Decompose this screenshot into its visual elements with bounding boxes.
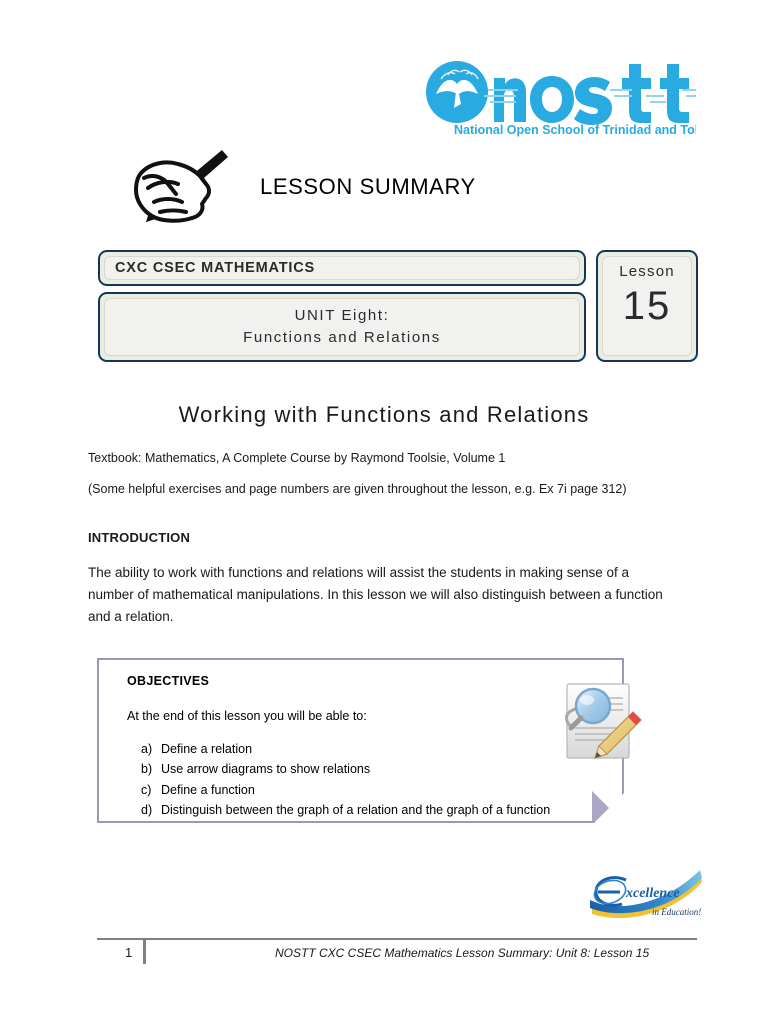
document-magnifier-pencil-icon [557, 676, 645, 766]
footer-text: NOSTT CXC CSEC Mathematics Lesson Summar… [275, 946, 649, 960]
lesson-number-box: Lesson 15 [596, 250, 698, 362]
excellence-in-education-logo: xcellence in Education! [586, 868, 704, 920]
unit-box: UNIT Eight: Functions and Relations [98, 292, 586, 362]
lesson-number: 15 [623, 284, 672, 329]
lesson-summary-header: LESSON SUMMARY [120, 148, 540, 226]
list-item: c) Define a function [127, 780, 567, 800]
list-item-marker: b) [127, 759, 161, 779]
list-item-marker: c) [127, 780, 161, 800]
course-box: CXC CSEC MATHEMATICS [98, 250, 586, 286]
main-heading: Working with Functions and Relations [0, 402, 768, 428]
list-item-label: Use arrow diagrams to show relations [161, 759, 370, 779]
introduction-heading: INTRODUCTION [88, 528, 688, 548]
course-label: CXC CSEC MATHEMATICS [115, 260, 315, 276]
unit-line-2: Functions and Relations [243, 327, 441, 349]
page-footer: 1 NOSTT CXC CSEC Mathematics Lesson Summ… [97, 938, 697, 968]
page-number: 1 [125, 945, 132, 960]
objectives-lead-in: At the end of this lesson you will be ab… [127, 709, 567, 723]
excellence-word: xcellence [625, 886, 680, 901]
list-item: d) Distinguish between the graph of a re… [127, 800, 567, 820]
lesson-title-block: CXC CSEC MATHEMATICS UNIT Eight: Functio… [98, 250, 698, 366]
list-item-label: Define a function [161, 780, 255, 800]
list-item-label: Distinguish between the graph of a relat… [161, 800, 550, 820]
list-item-marker: d) [127, 800, 161, 820]
lesson-title-left: CXC CSEC MATHEMATICS UNIT Eight: Functio… [98, 250, 586, 362]
nostt-logo: National Open School of Trinidad and Tob… [424, 60, 696, 138]
unit-line-1: UNIT Eight: [295, 305, 390, 327]
list-item-label: Define a relation [161, 739, 252, 759]
objectives-title: OBJECTIVES [127, 674, 567, 688]
list-item-marker: a) [127, 739, 161, 759]
folded-corner-cover [592, 791, 626, 825]
page-title: LESSON SUMMARY [260, 174, 476, 200]
list-item: a) Define a relation [127, 739, 567, 759]
footer-separator-bar [143, 940, 146, 964]
exercise-note-line: (Some helpful exercises and page numbers… [88, 480, 688, 499]
objectives-list: a) Define a relation b) Use arrow diagra… [127, 739, 567, 820]
objectives-box: OBJECTIVES At the end of this lesson you… [97, 658, 624, 823]
excellence-tagline: in Education! [652, 907, 701, 917]
list-item: b) Use arrow diagrams to show relations [127, 759, 567, 779]
objectives-content: OBJECTIVES At the end of this lesson you… [127, 674, 567, 820]
footer-divider [97, 938, 697, 940]
introduction-paragraph: The ability to work with functions and r… [88, 562, 678, 628]
lesson-label: Lesson [619, 263, 675, 280]
writing-hand-icon [120, 148, 232, 226]
nostt-logo-tagline: National Open School of Trinidad and Tob… [454, 123, 696, 137]
textbook-line: Textbook: Mathematics, A Complete Course… [88, 449, 688, 468]
